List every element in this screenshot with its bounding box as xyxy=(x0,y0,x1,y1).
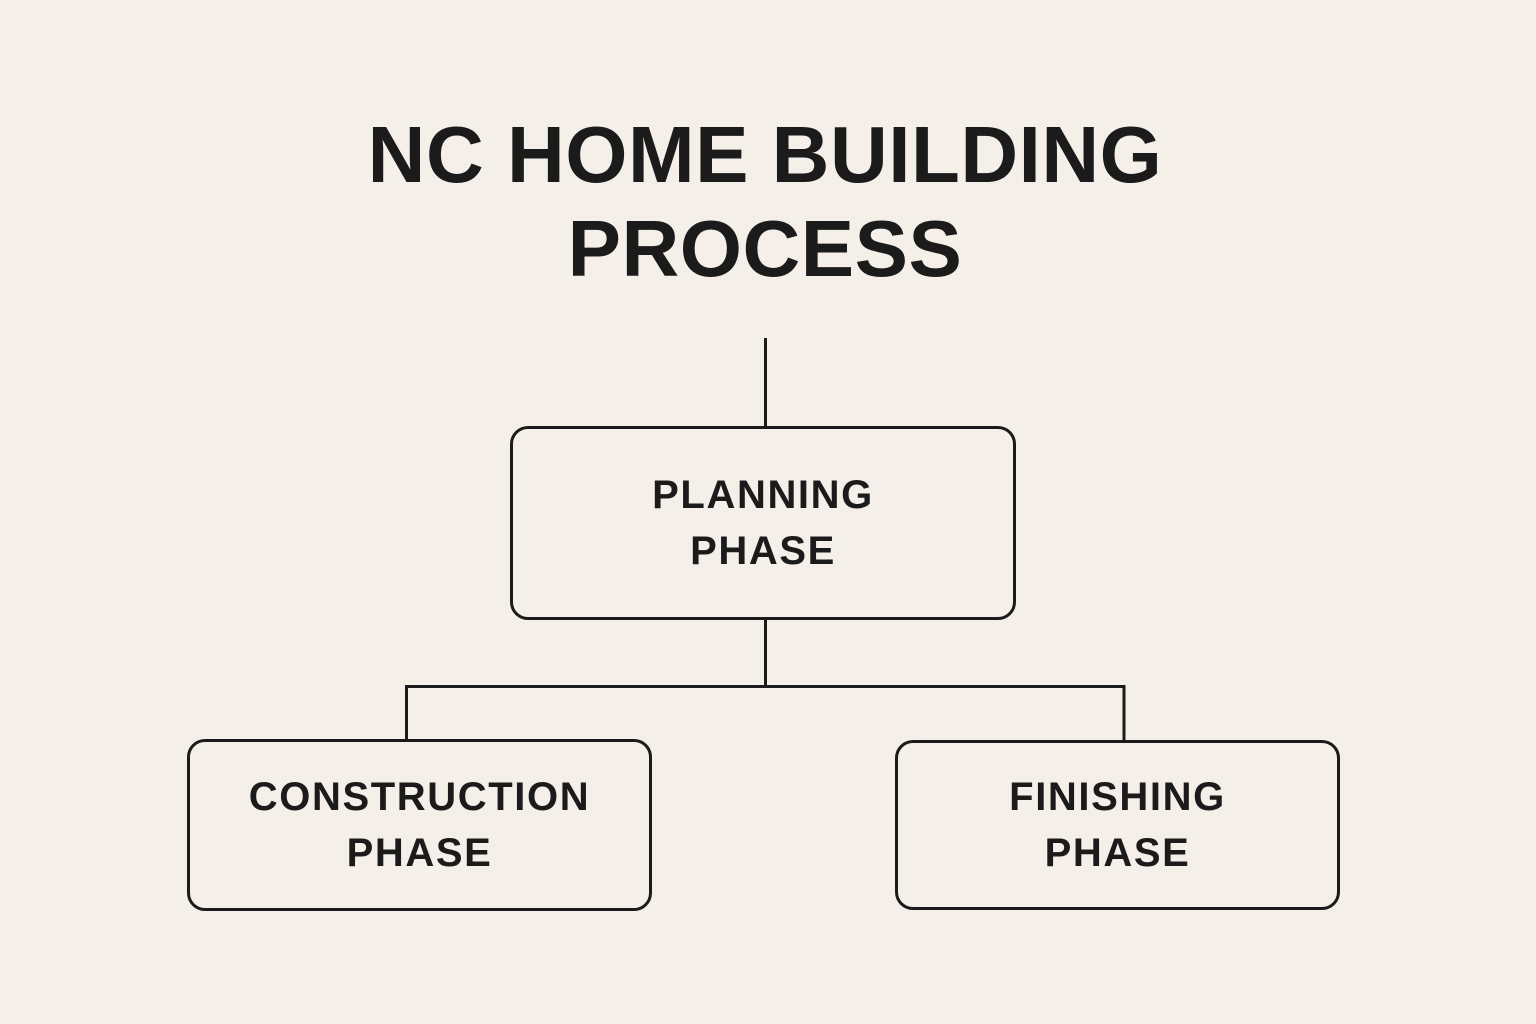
node-construction-phase-label: CONSTRUCTION PHASE xyxy=(235,769,604,881)
node-construction-phase[interactable]: CONSTRUCTION PHASE xyxy=(187,739,652,911)
node-planning-phase-label: PLANNING PHASE xyxy=(638,467,888,579)
diagram-canvas: NC HOME BUILDING PROCESS PLANNING PHASE … xyxy=(0,0,1536,1024)
node-finishing-phase-label: FINISHING PHASE xyxy=(995,769,1240,881)
page-title: NC HOME BUILDING PROCESS xyxy=(0,108,1530,296)
node-planning-phase[interactable]: PLANNING PHASE xyxy=(510,426,1016,620)
node-finishing-phase[interactable]: FINISHING PHASE xyxy=(895,740,1340,910)
